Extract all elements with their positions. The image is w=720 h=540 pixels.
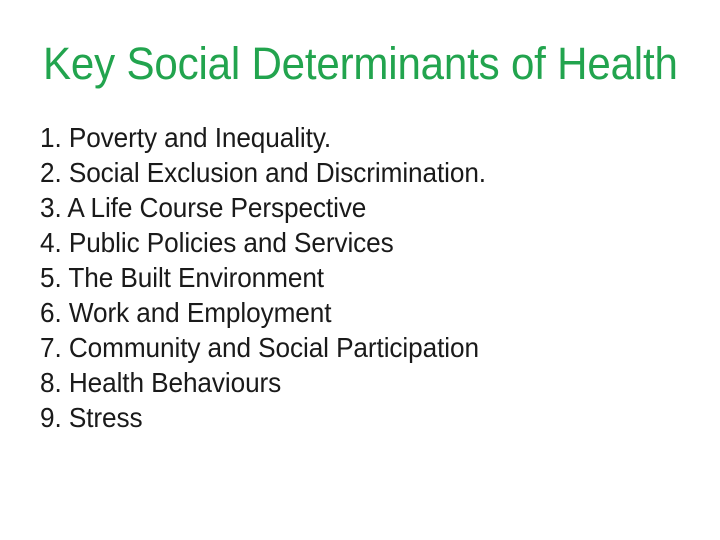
list-item-number: 5. bbox=[40, 262, 62, 293]
slide-canvas: Key Social Determinants of Health 1. Pov… bbox=[0, 0, 720, 540]
list-item-label: Public Policies and Services bbox=[69, 227, 394, 258]
list-item-label: Poverty and Inequality. bbox=[69, 122, 331, 153]
list-item-number: 1. bbox=[40, 122, 62, 153]
slide-title-area: Key Social Determinants of Health bbox=[0, 38, 720, 90]
list-item-label: Work and Employment bbox=[69, 297, 332, 328]
list-item: 9. Stress bbox=[40, 400, 638, 435]
list-item: 8. Health Behaviours bbox=[40, 365, 638, 400]
list-item-number: 3. bbox=[40, 192, 62, 223]
list-item: 7. Community and Social Participation bbox=[40, 330, 638, 365]
list-item-number: 4. bbox=[40, 227, 62, 258]
list-item-label: A Life Course Perspective bbox=[67, 192, 366, 223]
list-item-number: 2. bbox=[40, 157, 62, 188]
list-item-number: 6. bbox=[40, 297, 62, 328]
list-item-label: Stress bbox=[69, 402, 143, 433]
list-item-number: 7. bbox=[40, 332, 62, 363]
list-item-number: 9. bbox=[40, 402, 62, 433]
list-item-label: Social Exclusion and Discrimination. bbox=[69, 157, 486, 188]
list-item-label: Health Behaviours bbox=[69, 367, 281, 398]
slide-body: 1. Poverty and Inequality. 2. Social Exc… bbox=[40, 120, 680, 435]
list-item-label: The Built Environment bbox=[68, 262, 324, 293]
list-item: 2. Social Exclusion and Discrimination. bbox=[40, 155, 638, 190]
list-item: 3. A Life Course Perspective bbox=[40, 190, 638, 225]
determinants-list: 1. Poverty and Inequality. 2. Social Exc… bbox=[40, 120, 680, 435]
page-title: Key Social Determinants of Health bbox=[43, 38, 678, 90]
list-item: 1. Poverty and Inequality. bbox=[40, 120, 638, 155]
list-item: 5. The Built Environment bbox=[40, 260, 638, 295]
list-item-label: Community and Social Participation bbox=[69, 332, 479, 363]
list-item-number: 8. bbox=[40, 367, 62, 398]
list-item: 4. Public Policies and Services bbox=[40, 225, 638, 260]
list-item: 6. Work and Employment bbox=[40, 295, 638, 330]
